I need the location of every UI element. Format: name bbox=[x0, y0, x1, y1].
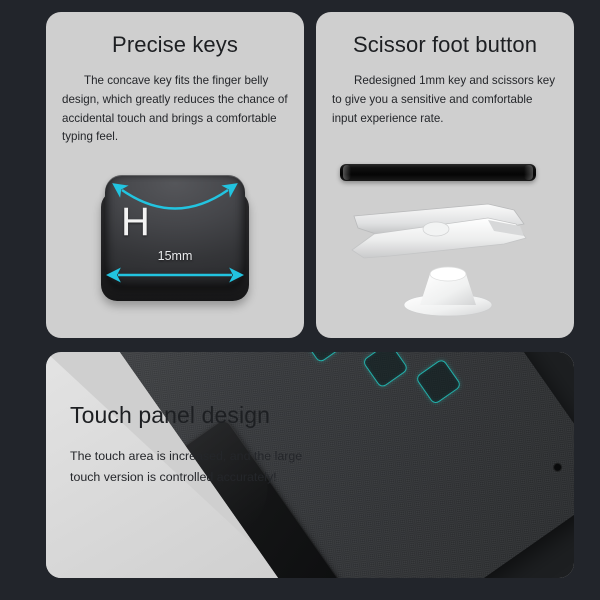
backlit-key-field: V G B H N M bbox=[138, 352, 523, 514]
panel-touch-body: The touch area is increased, and the lar… bbox=[70, 446, 328, 488]
keycap-plate-part bbox=[340, 164, 536, 181]
infographic-canvas: Precise keys The concave key fits the fi… bbox=[0, 0, 600, 600]
panel-scissor-title: Scissor foot button bbox=[316, 32, 574, 58]
rubber-dome-part bbox=[400, 258, 496, 318]
keycap-dimension-label: 15mm bbox=[95, 249, 255, 263]
keyboard-key-extra-2 bbox=[415, 358, 462, 405]
keyboard-key-m: M bbox=[300, 352, 347, 364]
panel-touch-title: Touch panel design bbox=[70, 402, 270, 429]
concave-curve-arrow-icon bbox=[95, 169, 255, 317]
keyboard-key-extra-1 bbox=[362, 352, 409, 389]
sensor-dot-icon bbox=[551, 461, 564, 474]
panel-touch-panel-design: V G B H N M Touch panel design The touch… bbox=[46, 352, 574, 578]
keycap-illustration: H 15mm bbox=[95, 169, 255, 317]
scissor-exploded-illustration bbox=[316, 150, 574, 335]
panel-precise-keys-title: Precise keys bbox=[46, 32, 304, 58]
panel-precise-keys: Precise keys The concave key fits the fi… bbox=[46, 12, 304, 338]
panel-scissor-body: Redesigned 1mm key and scissors key to g… bbox=[332, 72, 558, 128]
panel-precise-keys-body: The concave key fits the finger belly de… bbox=[62, 72, 288, 147]
panel-scissor-foot-button: Scissor foot button Redesigned 1mm key a… bbox=[316, 12, 574, 338]
